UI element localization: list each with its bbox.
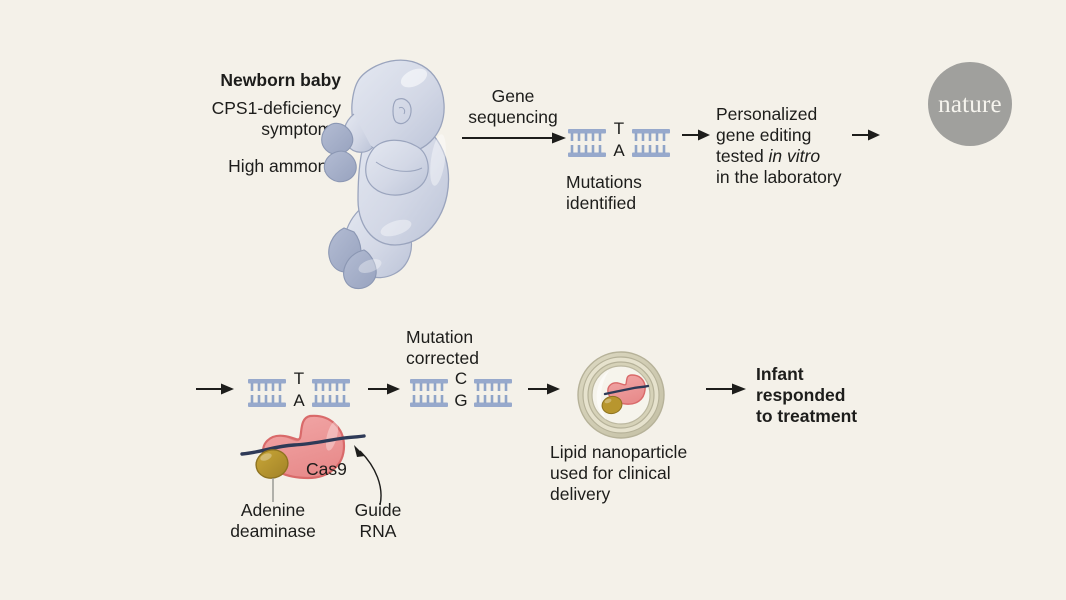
mutations-identified-text: Mutations identified (566, 172, 716, 214)
gene-sequencing-label: Gene sequencing (452, 86, 574, 128)
arrow-sequencing (462, 131, 566, 145)
figure-canvas: Newborn baby CPS1-deficiency symptoms Hi… (0, 0, 1066, 600)
newborn-baby-heading: Newborn baby (178, 70, 341, 91)
guide-rna-label: Guide RNA (340, 500, 416, 542)
dna-top-base-mutation: T (606, 119, 632, 138)
guide-rna-text: Guide RNA (340, 500, 416, 542)
arrow-to-nature (852, 128, 880, 142)
personalized-editing-text: Personalized gene editing tested in vitr… (716, 104, 876, 188)
lipid-nanoparticle-caption: Lipid nanoparticle used for clinical del… (550, 442, 740, 505)
arrow-to-corrected (368, 382, 400, 396)
dna-top-base-corrected: C (448, 369, 474, 388)
dna-bottom-base-mutation: A (606, 141, 632, 160)
outcome-text: Infant responded to treatment (756, 364, 936, 427)
guide-rna-pointer-arrow (340, 437, 400, 507)
personalized-in-vitro: in vitro (769, 146, 821, 166)
mutation-corrected-text: Mutation corrected (406, 327, 546, 369)
personalized-part2: in the laboratory (716, 167, 842, 187)
deaminase-leader-line (268, 478, 278, 502)
adenine-deaminase-icon (253, 446, 293, 482)
dna-corrected: C G (408, 373, 516, 413)
adenine-deaminase-label: Adenine deaminase (198, 500, 348, 542)
nature-logo[interactable]: nature (928, 62, 1012, 146)
arrow-to-outcome (706, 382, 746, 396)
personalized-editing-label: Personalized gene editing tested in vitr… (716, 104, 876, 188)
nature-logo-text: nature (938, 92, 1002, 117)
cps1-symptoms-text: CPS1-deficiency symptoms (178, 98, 341, 140)
arrow-to-personalized (682, 128, 710, 142)
mutations-identified-caption: Mutations identified (566, 172, 716, 214)
adenine-deaminase-text: Adenine deaminase (198, 500, 348, 542)
dna-mutation-bottom: T A (246, 373, 354, 413)
dna-bottom-base-corrected: G (448, 391, 474, 410)
mutation-corrected-caption: Mutation corrected (406, 327, 546, 369)
dna-mutation-top: T A (566, 123, 674, 163)
arrow-to-lipid (528, 382, 560, 396)
lipid-nanoparticle-text: Lipid nanoparticle used for clinical del… (550, 442, 740, 505)
high-ammonia-text: High ammonia (178, 156, 341, 177)
newborn-baby-text-block: Newborn baby CPS1-deficiency symptoms Hi… (178, 70, 341, 177)
lipid-nanoparticle-icon (576, 350, 666, 440)
gene-sequencing-text: Gene sequencing (452, 86, 574, 128)
dna-bottom-top-base-mutation: T (286, 369, 312, 388)
arrow-bottom-lead (196, 382, 234, 396)
dna-bottom-bottom-base-mutation: A (286, 391, 312, 410)
outcome-label: Infant responded to treatment (756, 364, 936, 427)
